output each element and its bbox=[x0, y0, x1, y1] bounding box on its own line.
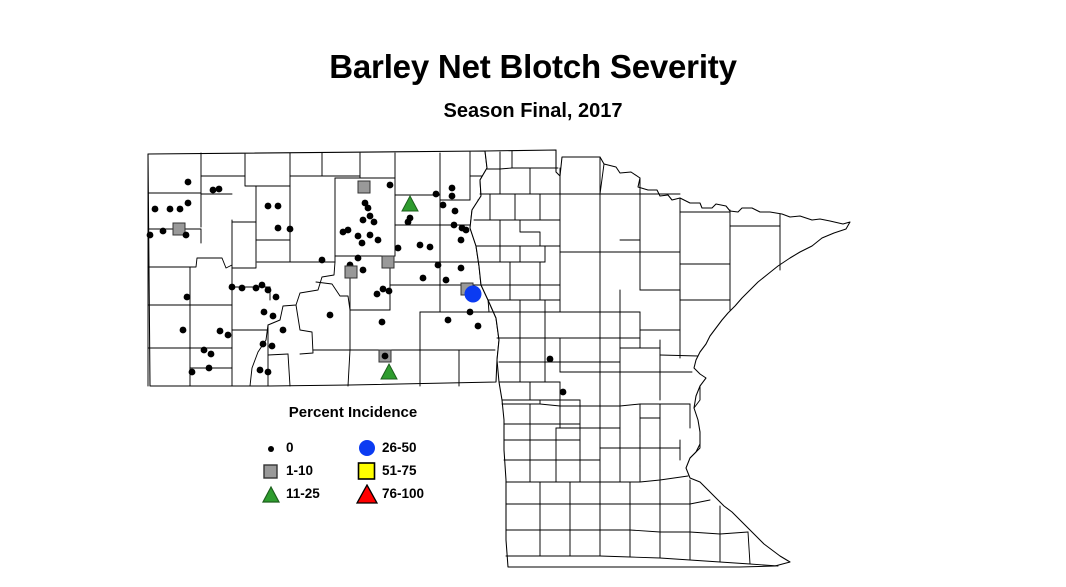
map-marker-dot bbox=[180, 327, 187, 334]
map-marker-dot bbox=[417, 242, 424, 249]
map-canvas bbox=[0, 0, 1066, 587]
map-marker-dot bbox=[210, 187, 217, 194]
blue-circle-icon bbox=[356, 438, 378, 458]
map-marker-dot bbox=[355, 255, 362, 262]
map-marker-dot bbox=[184, 294, 191, 301]
map-marker-dot bbox=[287, 226, 294, 233]
map-marker-dot bbox=[183, 232, 190, 239]
map-marker-dot bbox=[167, 206, 174, 213]
map-marker-dot bbox=[206, 365, 213, 372]
map-marker-dot bbox=[367, 213, 374, 220]
map-marker-dot bbox=[355, 233, 362, 240]
map-marker-dot bbox=[475, 323, 482, 330]
map-marker-dot bbox=[463, 227, 470, 234]
map-marker-dot bbox=[265, 287, 272, 294]
map-marker-dot bbox=[449, 185, 456, 192]
map-marker-dot bbox=[217, 328, 224, 335]
map-marker-dot bbox=[360, 217, 367, 224]
map-marker-dot bbox=[201, 347, 208, 354]
map-marker-dot bbox=[445, 317, 452, 324]
map-marker-dot bbox=[367, 232, 374, 239]
map-marker-dot bbox=[269, 343, 276, 350]
map-marker-gray-square bbox=[358, 181, 370, 193]
map-marker-dot bbox=[185, 200, 192, 207]
map-marker-dot bbox=[375, 237, 382, 244]
legend-label-11-25: 11-25 bbox=[286, 486, 320, 501]
map-marker-dot bbox=[152, 206, 159, 213]
map-marker-dot bbox=[239, 285, 246, 292]
map-marker-dot bbox=[275, 203, 282, 210]
map-marker-dot bbox=[229, 284, 236, 291]
map-figure-page: Barley Net Blotch Severity Season Final,… bbox=[0, 0, 1066, 587]
map-marker-dot bbox=[435, 262, 442, 269]
legend-item-26-50[interactable]: 26-50 bbox=[356, 436, 424, 459]
map-marker-dot bbox=[177, 206, 184, 213]
map-marker-dot bbox=[273, 294, 280, 301]
map-marker-dot bbox=[405, 219, 412, 226]
map-marker-dot bbox=[253, 285, 260, 292]
legend-label-26-50: 26-50 bbox=[382, 440, 417, 455]
map-marker-dot bbox=[260, 341, 267, 348]
map-marker-dot bbox=[365, 205, 372, 212]
map-marker-gray-square bbox=[345, 266, 357, 278]
map-marker-blue-circle bbox=[465, 286, 482, 303]
legend-label-51-75: 51-75 bbox=[382, 463, 417, 478]
map-marker-dot bbox=[458, 265, 465, 272]
map-marker-dot bbox=[360, 267, 367, 274]
map-marker-dot bbox=[467, 309, 474, 316]
map-marker-dot bbox=[395, 245, 402, 252]
map-marker-dot bbox=[275, 225, 282, 232]
red-triangle-icon bbox=[356, 484, 378, 504]
map-marker-dot bbox=[345, 227, 352, 234]
green-triangle-icon bbox=[260, 484, 282, 504]
map-marker-dot bbox=[440, 202, 447, 209]
map-marker-dot bbox=[449, 193, 456, 200]
map-marker-dot bbox=[443, 277, 450, 284]
map-marker-dot bbox=[371, 219, 378, 226]
map-marker-dot bbox=[420, 275, 427, 282]
legend-title: Percent Incidence bbox=[238, 404, 468, 421]
legend: Percent Incidence 0 1-10 11-25 bbox=[238, 404, 468, 508]
map-marker-dot bbox=[387, 182, 394, 189]
legend-label-0: 0 bbox=[286, 440, 294, 455]
small-black-dot-icon bbox=[260, 438, 282, 458]
legend-item-1-10[interactable]: 1-10 bbox=[260, 459, 320, 482]
map-marker-dot bbox=[265, 203, 272, 210]
map-marker-dot bbox=[216, 186, 223, 193]
legend-label-76-100: 76-100 bbox=[382, 486, 424, 501]
legend-item-0[interactable]: 0 bbox=[260, 436, 320, 459]
map-marker-dot bbox=[270, 313, 277, 320]
gray-square-icon bbox=[260, 461, 282, 481]
map-marker-dot bbox=[386, 288, 393, 295]
map-marker-dot bbox=[265, 369, 272, 376]
legend-label-1-10: 1-10 bbox=[286, 463, 313, 478]
map-marker-dot bbox=[225, 332, 232, 339]
map-marker-dot bbox=[382, 353, 389, 360]
legend-item-76-100[interactable]: 76-100 bbox=[356, 482, 424, 505]
map-marker-dot bbox=[259, 282, 266, 289]
map-marker-dot bbox=[433, 191, 440, 198]
map-marker-dot bbox=[261, 309, 268, 316]
map-marker-dot bbox=[189, 369, 196, 376]
map-marker-dot bbox=[458, 237, 465, 244]
map-marker-dot bbox=[427, 244, 434, 251]
map-marker-dot bbox=[208, 351, 215, 358]
map-marker-dot bbox=[280, 327, 287, 334]
map-marker-dot bbox=[374, 291, 381, 298]
legend-item-11-25[interactable]: 11-25 bbox=[260, 482, 320, 505]
map-marker-dot bbox=[359, 240, 366, 247]
map-marker-dot bbox=[160, 228, 167, 235]
map-marker-dot bbox=[560, 389, 567, 396]
map-marker-dot bbox=[380, 286, 387, 293]
map-marker-dot bbox=[327, 312, 334, 319]
legend-column-left: 0 1-10 11-25 bbox=[260, 436, 320, 505]
map-marker-dot bbox=[185, 179, 192, 186]
map-marker-dot bbox=[379, 319, 386, 326]
legend-column-right: 26-50 51-75 76-100 bbox=[356, 436, 424, 505]
map-marker-dot bbox=[257, 367, 264, 374]
map-marker-dot bbox=[451, 222, 458, 229]
yellow-square-icon bbox=[356, 461, 378, 481]
legend-item-51-75[interactable]: 51-75 bbox=[356, 459, 424, 482]
map-marker-gray-square bbox=[382, 256, 394, 268]
map-marker-dot bbox=[319, 257, 326, 264]
map-marker-dot bbox=[547, 356, 554, 363]
map-marker-dot bbox=[147, 232, 154, 239]
map-marker-dot bbox=[452, 208, 459, 215]
